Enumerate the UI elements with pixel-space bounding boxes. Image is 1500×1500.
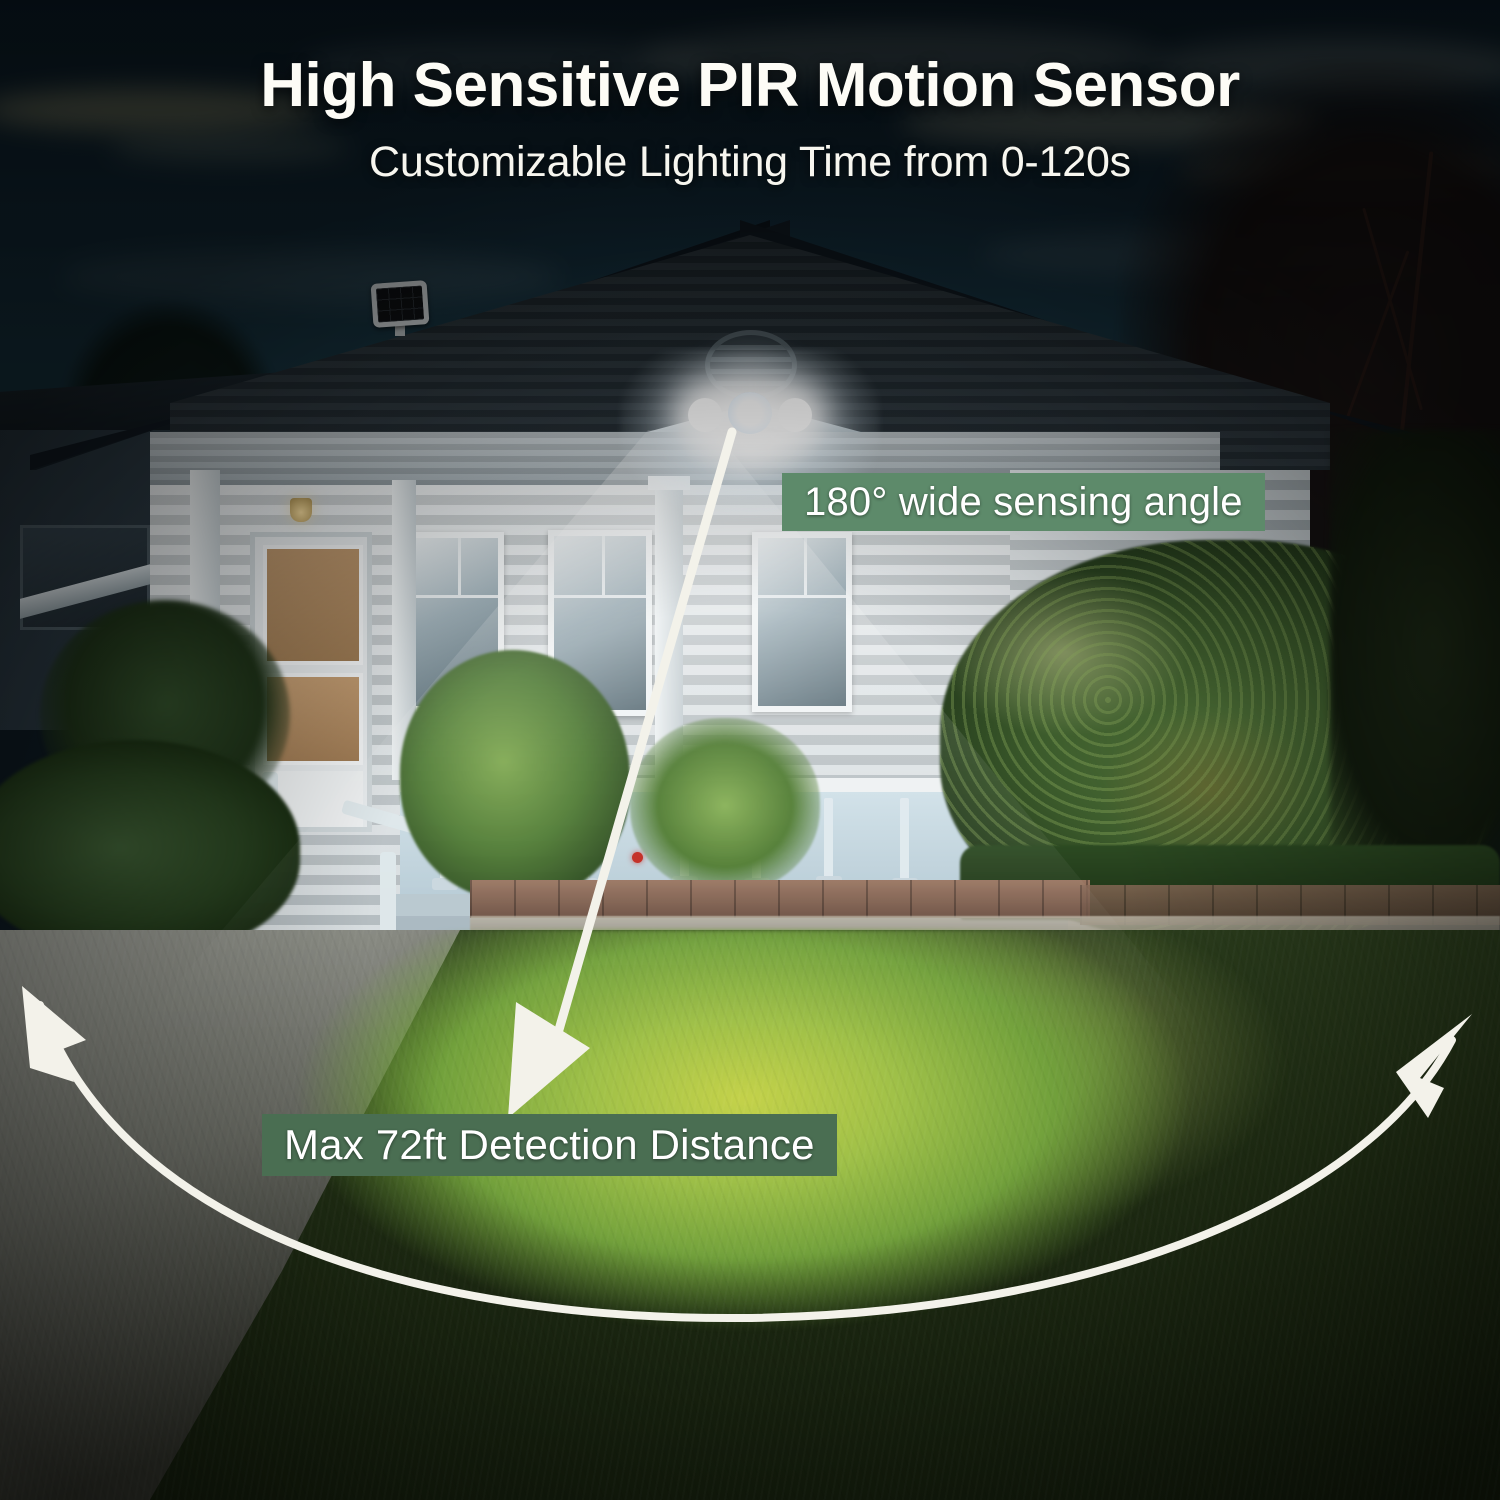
- page-title: High Sensitive PIR Motion Sensor: [0, 50, 1500, 121]
- pointer-line: [556, 432, 732, 1040]
- pointer-arrowhead: [508, 1002, 590, 1118]
- page-subtitle: Customizable Lighting Time from 0-120s: [0, 138, 1500, 187]
- product-feature-image: High Sensitive PIR Motion Sensor Customi…: [0, 0, 1500, 1500]
- callout-detection-distance: Max 72ft Detection Distance: [262, 1114, 837, 1176]
- callout-sensing-angle: 180° wide sensing angle: [782, 473, 1265, 531]
- annotation-overlay: [0, 0, 1500, 1500]
- arc-arrowhead-left: [22, 986, 86, 1082]
